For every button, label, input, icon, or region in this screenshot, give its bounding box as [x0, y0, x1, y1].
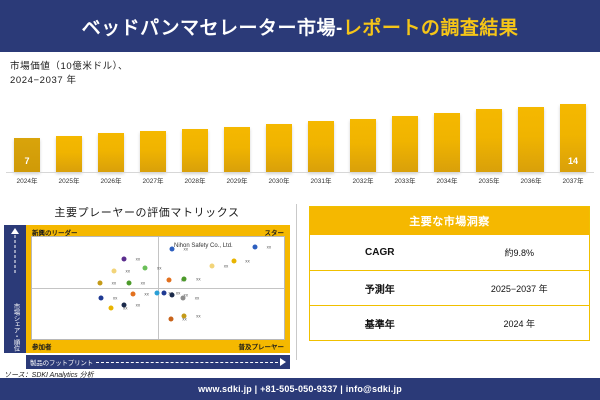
bar: [434, 113, 460, 172]
matrix-data-point: [121, 303, 126, 308]
matrix-data-point-label: xx: [182, 316, 187, 321]
up-arrow-icon: [11, 228, 19, 234]
bar: [224, 127, 250, 172]
dashed-line-icon: [15, 235, 16, 273]
matrix-x-axis-label: 製品のフットプリント: [30, 357, 93, 367]
bar-column: 14: [552, 100, 594, 172]
insights-row-value: 2025−2037 年: [450, 282, 590, 295]
right-arrow-icon: [280, 358, 286, 366]
insights-row-key: 予測年: [310, 281, 450, 296]
axis-tick-label: 2031年: [300, 175, 342, 185]
matrix-y-axis: 市場シェア・順位: [4, 225, 26, 353]
matrix-y-axis-label: 市場シェア・順位: [10, 303, 20, 351]
matrix-data-point: [127, 280, 132, 285]
matrix-data-point: [182, 276, 187, 281]
insights-table: 主要な市場洞察 CAGR約9.8%予測年2025−2037 年基準年2024 年: [309, 206, 590, 341]
bar-column: [174, 100, 216, 172]
matrix-data-point: [143, 265, 148, 270]
matrix-title: 主要プレーヤーの評価マトリックス: [4, 202, 290, 225]
bar-column: 7: [6, 100, 48, 172]
matrix-data-point-label: xx: [141, 280, 146, 285]
insights-row-value: 2024 年: [450, 317, 590, 330]
chart-title-line1: 市場価値（10億米ドル）、: [10, 60, 594, 74]
axis-tick-label: 2027年: [132, 175, 174, 185]
bar-column: [258, 100, 300, 172]
matrix-data-point-label: xx: [136, 257, 141, 262]
insights-table-header: 主要な市場洞察: [310, 207, 589, 235]
bar-column: [216, 100, 258, 172]
matrix-data-point: [162, 291, 167, 296]
axis-tick-label: 2033年: [384, 175, 426, 185]
matrix-data-point: [130, 292, 135, 297]
matrix-data-point-label: xx: [157, 265, 162, 270]
chart-axis-labels: 2024年2025年2026年2027年2028年2029年2030年2031年…: [6, 175, 594, 185]
matrix-data-point: [253, 245, 258, 250]
lower-section: 主要プレーヤーの評価マトリックス 市場シェア・順位 新興のリーダー スター 参加…: [0, 200, 600, 378]
matrix-wrap: 市場シェア・順位 新興のリーダー スター 参加者 普及プレーヤー Nihon S…: [4, 225, 290, 353]
matrix-body: 新興のリーダー スター 参加者 普及プレーヤー Nihon Safety Co.…: [26, 225, 290, 353]
axis-tick-label: 2028年: [174, 175, 216, 185]
matrix-data-point: [98, 280, 103, 285]
quadrant-label-pervasive-player: 普及プレーヤー: [239, 341, 285, 351]
matrix-data-point-label: xx: [196, 276, 201, 281]
insights-row-value: 約9.8%: [450, 246, 590, 259]
bar-column: [426, 100, 468, 172]
bar: [182, 129, 208, 172]
bar: 14: [560, 104, 586, 172]
bar-column: [90, 100, 132, 172]
bar: [98, 133, 124, 172]
bar-column: [468, 100, 510, 172]
chart-axis-line: [6, 172, 594, 173]
plot-horizontal-divider: [32, 288, 284, 289]
matrix-data-point-label: xx: [112, 280, 117, 285]
key-insights-panel: 主要な市場洞察 CAGR約9.8%予測年2025−2037 年基準年2024 年: [297, 200, 600, 378]
axis-tick-label: 2035年: [468, 175, 510, 185]
matrix-data-point: [167, 277, 172, 282]
bar-column: [48, 100, 90, 172]
evaluation-matrix-panel: 主要プレーヤーの評価マトリックス 市場シェア・順位 新興のリーダー スター 参加…: [0, 200, 296, 378]
matrix-data-point-label: xx: [126, 268, 131, 273]
page-title-main: ベッドパンマセレーター市場-: [82, 18, 343, 39]
bar: [350, 119, 376, 172]
bar: [392, 116, 418, 172]
insights-table-body: CAGR約9.8%予測年2025−2037 年基準年2024 年: [310, 235, 589, 340]
bar: [266, 124, 292, 172]
matrix-data-point-label: xx: [136, 303, 141, 308]
matrix-data-point: [109, 306, 114, 311]
matrix-data-point-label: xx: [183, 247, 188, 252]
bar: [476, 109, 502, 172]
axis-tick-label: 2037年: [552, 175, 594, 185]
matrix-data-point: [231, 259, 236, 264]
dashed-line-icon: [96, 362, 278, 363]
matrix-data-point: [168, 316, 173, 321]
insights-table-row: 基準年2024 年: [310, 305, 589, 340]
bar-column: [300, 100, 342, 172]
market-value-chart: 市場価値（10億米ドル）、 2024−2037 年 714 2024年2025年…: [0, 52, 600, 195]
bar: 7: [14, 138, 40, 172]
insights-row-key: CAGR: [310, 247, 450, 258]
matrix-data-point: [210, 263, 215, 268]
bar: [308, 121, 334, 172]
footer-contact-text: www.sdki.jp | +81-505-050-9337 | info@sd…: [198, 384, 402, 394]
matrix-data-point: [169, 247, 174, 252]
page-header: ベッドパンマセレーター市場-レポートの調査結果: [0, 0, 600, 52]
matrix-x-axis: 製品のフットプリント: [26, 355, 290, 369]
bar-column: [132, 100, 174, 172]
matrix-data-point-label: xx: [224, 263, 229, 268]
bar-value-label: 14: [560, 156, 586, 166]
bar-value-label: 7: [14, 156, 40, 166]
matrix-data-point: [154, 291, 159, 296]
bar-column: [342, 100, 384, 172]
axis-tick-label: 2036年: [510, 175, 552, 185]
axis-tick-label: 2025年: [48, 175, 90, 185]
page-footer: www.sdki.jp | +81-505-050-9337 | info@sd…: [0, 378, 600, 400]
matrix-data-point-label: xx: [196, 313, 201, 318]
matrix-data-point: [121, 257, 126, 262]
bar: [140, 131, 166, 172]
matrix-data-point: [169, 293, 174, 298]
quadrant-label-participant: 参加者: [32, 341, 52, 351]
insights-row-key: 基準年: [310, 316, 450, 331]
matrix-data-point-label: xx: [267, 245, 272, 250]
matrix-data-point-label: xx: [176, 291, 181, 296]
chart-title: 市場価値（10億米ドル）、 2024−2037 年: [6, 60, 594, 88]
matrix-data-point: [111, 268, 116, 273]
axis-tick-label: 2026年: [90, 175, 132, 185]
bar-column: [384, 100, 426, 172]
axis-tick-label: 2029年: [216, 175, 258, 185]
axis-tick-label: 2032年: [342, 175, 384, 185]
matrix-data-point-label: xx: [144, 292, 149, 297]
chart-title-line2: 2024−2037 年: [10, 74, 594, 88]
matrix-data-point: [99, 296, 104, 301]
axis-tick-label: 2024年: [6, 175, 48, 185]
axis-tick-label: 2034年: [426, 175, 468, 185]
insights-table-row: CAGR約9.8%: [310, 235, 589, 270]
bar: [518, 107, 544, 172]
page-title: ベッドパンマセレーター市場-レポートの調査結果: [82, 13, 519, 40]
bar: [56, 136, 82, 172]
chart-bars: 714: [6, 100, 594, 172]
matrix-plot-area: Nihon Safety Co., Ltd. xxxxxxxxxxxxxxxxx…: [31, 236, 285, 340]
matrix-data-point-label: xx: [245, 259, 250, 264]
matrix-data-point-label: xx: [113, 296, 118, 301]
insights-table-row: 予測年2025−2037 年: [310, 270, 589, 305]
matrix-data-point: [181, 296, 186, 301]
bar-column: [510, 100, 552, 172]
axis-tick-label: 2030年: [258, 175, 300, 185]
matrix-data-point-label: xx: [195, 296, 200, 301]
page-title-accent: レポートの調査結果: [343, 18, 519, 39]
